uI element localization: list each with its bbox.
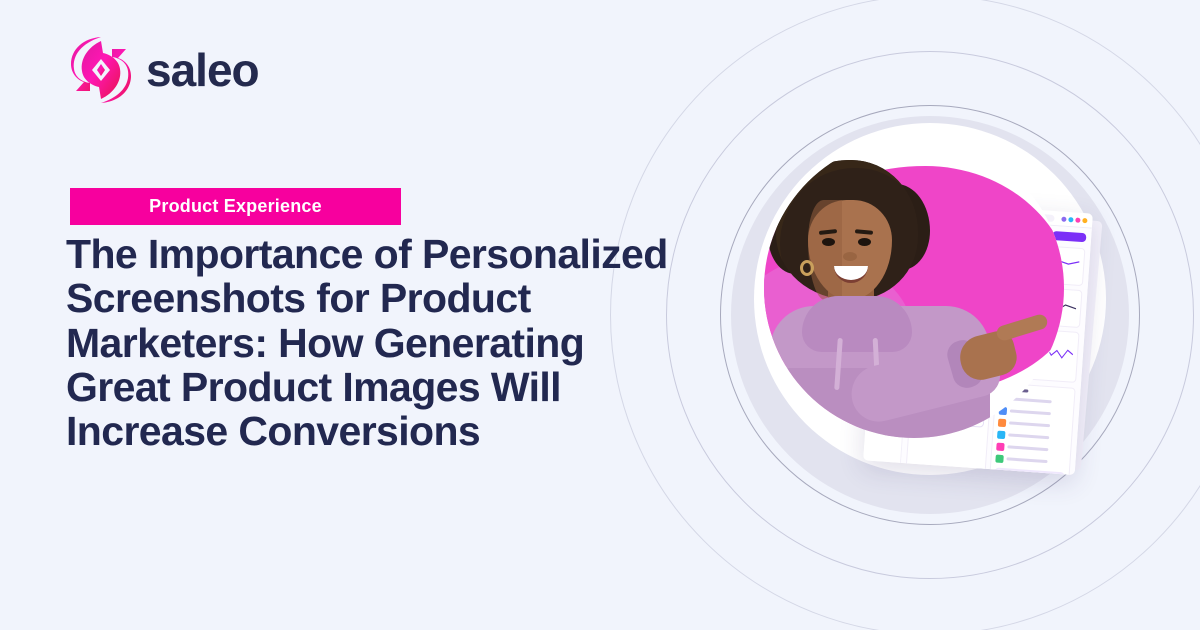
- avatar: [1082, 218, 1087, 223]
- page-title: The Importance of Personalized Screensho…: [66, 232, 686, 453]
- list-item[interactable]: [996, 442, 1066, 455]
- hoodie-hood: [802, 296, 912, 352]
- social-share-card: saleo Product Experience The Importance …: [0, 0, 1200, 630]
- dashboard-avatar-group[interactable]: [1061, 216, 1087, 223]
- list-item[interactable]: [995, 454, 1065, 467]
- earring: [800, 260, 814, 276]
- face-shadow: [808, 200, 842, 300]
- nose: [843, 252, 857, 261]
- avatar: [1075, 217, 1080, 222]
- category-badge-label: Product Experience: [149, 196, 322, 217]
- category-badge[interactable]: Product Experience: [70, 188, 401, 225]
- pointing-finger: [995, 313, 1049, 343]
- status-icon: [996, 442, 1005, 451]
- eye-right: [858, 238, 871, 246]
- avatar: [1068, 217, 1073, 222]
- brand-wordmark: saleo: [146, 47, 259, 93]
- person-illustration: [764, 138, 1064, 438]
- status-icon: [995, 454, 1004, 463]
- eye-left: [822, 238, 835, 246]
- saleo-diamond-logo-icon: [70, 35, 132, 105]
- brand-logo[interactable]: saleo: [70, 35, 259, 105]
- hero-photo: [764, 138, 1064, 438]
